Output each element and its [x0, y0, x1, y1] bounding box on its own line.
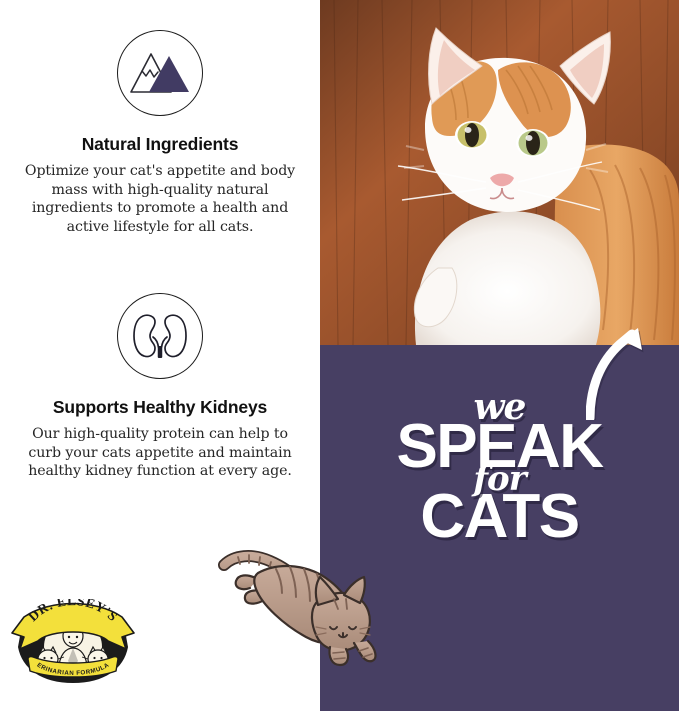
kidneys-icon: [117, 293, 203, 379]
product-infographic: we SPEAK for CATS Natural Ingredients Op…: [0, 0, 679, 711]
leaping-tabby-cat-illustration: [218, 543, 394, 668]
feature-title: Supports Healthy Kidneys: [0, 397, 320, 418]
curved-up-arrow-icon: [586, 300, 679, 420]
mountain-icon: [117, 30, 203, 116]
feature-natural-ingredients: Natural Ingredients Optimize your cat's …: [0, 30, 320, 237]
orange-white-cat-photo: [320, 0, 679, 345]
feature-title: Natural Ingredients: [0, 134, 320, 155]
feature-body: Optimize your cat's appetite and body ma…: [0, 162, 320, 237]
feature-supports-healthy-kidneys: Supports Healthy Kidneys Our high-qualit…: [0, 293, 320, 481]
feature-body: Our high-quality protein can help to cur…: [0, 425, 320, 481]
dr-elseys-logo: DR. ELSEY'S VETERINARIAN FORMULATED: [10, 599, 136, 685]
